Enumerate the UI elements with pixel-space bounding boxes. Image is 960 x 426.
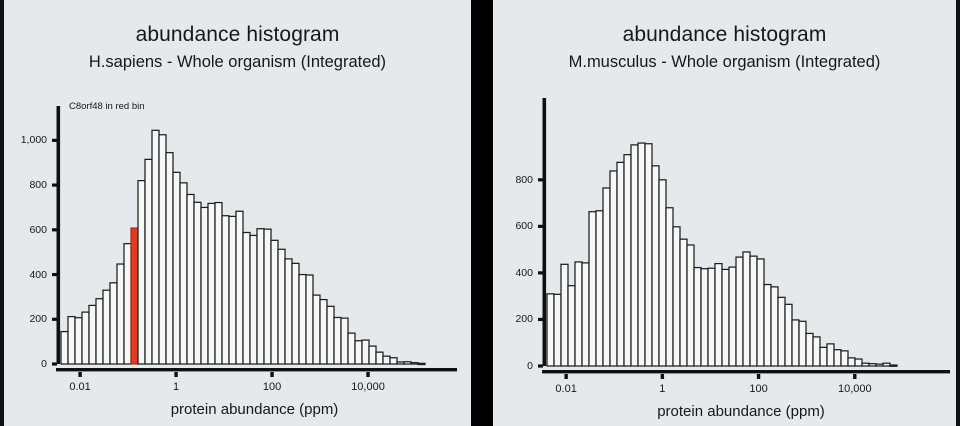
y-axis-tick-label: 800 [493, 174, 533, 186]
x-axis-tick-label: 100 [263, 381, 281, 393]
histogram-bar [869, 364, 876, 366]
histogram-bar [631, 145, 638, 366]
histogram-bar [313, 295, 320, 364]
histogram-bar [348, 333, 355, 364]
y-axis-tick-label: 400 [493, 267, 533, 279]
histogram-bar [638, 143, 645, 366]
y-axis-tick [538, 364, 543, 367]
x-axis-tick [366, 372, 369, 377]
histogram-bar [603, 188, 610, 366]
histogram-bar [61, 332, 68, 364]
histogram-bar [138, 181, 145, 364]
histogram-bar [292, 263, 299, 364]
figure-screenshot: abundance histogram H.sapiens - Whole or… [0, 0, 960, 426]
histogram-bar [285, 259, 292, 364]
histogram-bar [103, 290, 110, 364]
histogram-bar [666, 208, 673, 366]
histogram-bar [617, 162, 624, 366]
x-axis-line [56, 368, 457, 371]
histogram-bar [743, 252, 750, 366]
histogram-bar [397, 362, 404, 364]
histogram-bars [61, 130, 425, 364]
histogram-bar [855, 359, 862, 366]
histogram-bar [236, 211, 243, 364]
histogram-bar [159, 135, 166, 364]
histogram-bar [645, 144, 652, 366]
histogram-bar [355, 341, 362, 364]
histogram-bar [110, 283, 117, 364]
histogram-bar [547, 294, 554, 366]
x-axis-tick-label: 0.01 [555, 383, 576, 395]
histogram-bar-highlighted [131, 228, 138, 364]
x-axis-tick-label: 0.01 [69, 381, 90, 393]
histogram-bar [327, 306, 334, 364]
histogram-bar [173, 172, 180, 364]
histogram-bar [299, 275, 306, 364]
histogram-bar [750, 256, 757, 366]
y-axis-tick [52, 139, 57, 142]
histogram-bar [890, 365, 897, 366]
histogram-bar [145, 159, 152, 364]
histogram-bar [813, 337, 820, 366]
histogram-bar [194, 202, 201, 364]
histogram-bar [680, 239, 687, 366]
histogram-bar [82, 312, 89, 364]
histogram-bar [841, 351, 848, 366]
chart-annotation: C8orf48 in red bin [69, 101, 145, 112]
x-axis-tick [174, 372, 177, 377]
y-axis-tick [52, 273, 57, 276]
y-axis-tick-label: 0 [493, 360, 533, 372]
histogram-bar [201, 207, 208, 364]
x-axis-tick-label: 100 [749, 383, 767, 395]
histogram-bar [876, 364, 883, 366]
histogram-bar [411, 363, 418, 364]
histogram-bar [222, 216, 229, 364]
histogram-bar [624, 155, 631, 366]
x-axis-tick-label: 10,000 [838, 383, 872, 395]
y-axis-tick-label: 400 [4, 269, 47, 281]
histogram-bar [68, 317, 75, 364]
histogram-bar [715, 264, 722, 366]
histogram-bars [547, 143, 897, 366]
x-axis-tick-label: 1 [173, 381, 179, 393]
histogram-bar [610, 171, 617, 366]
histogram-bar [341, 318, 348, 364]
y-axis-line [543, 98, 547, 366]
histogram-bar [575, 262, 582, 366]
histogram-bar [180, 183, 187, 364]
histogram-bar [243, 233, 250, 365]
histogram-bar [701, 269, 708, 366]
histogram-bar [862, 363, 869, 366]
panel-h-sapiens: abundance histogram H.sapiens - Whole or… [4, 0, 471, 426]
histogram-bar [208, 203, 215, 364]
y-axis-tick-label: 1,000 [4, 134, 47, 146]
histogram-bar [75, 318, 82, 364]
histogram-plot-m-musculus: 02004006008000.01110010,000protein abund… [493, 0, 956, 426]
histogram-bar [708, 268, 715, 366]
histogram-bar [96, 299, 103, 364]
y-axis-tick [538, 271, 543, 274]
histogram-bar [792, 320, 799, 366]
histogram-bar [264, 229, 271, 364]
y-axis-tick-label: 200 [4, 313, 47, 325]
y-axis-line [57, 106, 61, 364]
histogram-bar [418, 363, 425, 364]
y-axis-tick [52, 183, 57, 186]
histogram-bar [229, 216, 236, 364]
histogram-bar [376, 352, 383, 364]
y-axis-tick [538, 178, 543, 181]
histogram-bar [785, 304, 792, 366]
histogram-bar [271, 240, 278, 364]
x-axis-line [542, 370, 950, 373]
y-axis-tick-label: 800 [4, 179, 47, 191]
histogram-svg [4, 0, 471, 426]
histogram-bar [187, 194, 194, 364]
histogram-bar [320, 300, 327, 364]
x-axis-tick-label: 1 [659, 383, 665, 395]
histogram-bar [334, 317, 341, 364]
x-axis-title: protein abundance (ppm) [657, 403, 825, 420]
x-axis-tick-label: 10,000 [351, 381, 385, 393]
y-axis-tick-label: 0 [4, 358, 47, 370]
histogram-bar [827, 344, 834, 366]
histogram-bar [124, 244, 131, 364]
histogram-bar [652, 166, 659, 366]
y-axis-tick [52, 362, 57, 365]
y-axis-tick [52, 318, 57, 321]
x-axis-tick [661, 374, 664, 379]
histogram-bar [848, 358, 855, 366]
histogram-bar [883, 363, 890, 366]
histogram-bar [89, 305, 96, 364]
histogram-bar [820, 347, 827, 366]
histogram-bar [390, 358, 397, 364]
histogram-bar [834, 350, 841, 366]
histogram-bar [257, 229, 264, 364]
panel-m-musculus: abundance histogram M.musculus - Whole o… [493, 0, 956, 426]
histogram-bar [589, 212, 596, 366]
histogram-bar [383, 356, 390, 364]
histogram-bar [362, 340, 369, 364]
histogram-bar [764, 285, 771, 366]
x-axis-tick [270, 372, 273, 377]
histogram-bar [736, 257, 743, 366]
x-axis-tick [757, 374, 760, 379]
histogram-bar [673, 227, 680, 366]
histogram-bar [369, 346, 376, 364]
histogram-bar [771, 287, 778, 366]
y-axis-tick-label: 600 [493, 220, 533, 232]
y-axis-tick [538, 225, 543, 228]
y-axis-tick [538, 318, 543, 321]
x-axis-tick [564, 374, 567, 379]
histogram-bar [694, 268, 701, 366]
histogram-bar [215, 203, 222, 364]
x-axis-tick [78, 372, 81, 377]
y-axis-tick-label: 600 [4, 224, 47, 236]
x-axis-tick [853, 374, 856, 379]
histogram-bar [404, 362, 411, 364]
histogram-svg [493, 0, 956, 426]
histogram-bar [799, 321, 806, 366]
histogram-bar [729, 267, 736, 366]
histogram-bar [554, 294, 561, 366]
y-axis-tick [52, 228, 57, 231]
histogram-bar [778, 297, 785, 366]
histogram-bar [568, 286, 575, 366]
histogram-bar [596, 211, 603, 366]
histogram-bar [278, 249, 285, 364]
x-axis-title: protein abundance (ppm) [171, 401, 339, 418]
histogram-bar [117, 264, 124, 364]
histogram-plot-h-sapiens: C8orf48 in red bin02004006008001,0000.01… [4, 0, 471, 426]
histogram-bar [582, 263, 589, 366]
frame-edge-right [956, 0, 960, 426]
histogram-bar [561, 264, 568, 366]
histogram-bar [306, 275, 313, 364]
y-axis-tick-label: 200 [493, 313, 533, 325]
histogram-bar [250, 235, 257, 364]
histogram-bar [687, 245, 694, 366]
histogram-bar [166, 153, 173, 364]
histogram-bar [806, 333, 813, 366]
histogram-bar [152, 130, 159, 364]
histogram-bar [722, 269, 729, 366]
histogram-bar [659, 180, 666, 366]
histogram-bar [757, 259, 764, 366]
panel-divider [471, 0, 493, 426]
